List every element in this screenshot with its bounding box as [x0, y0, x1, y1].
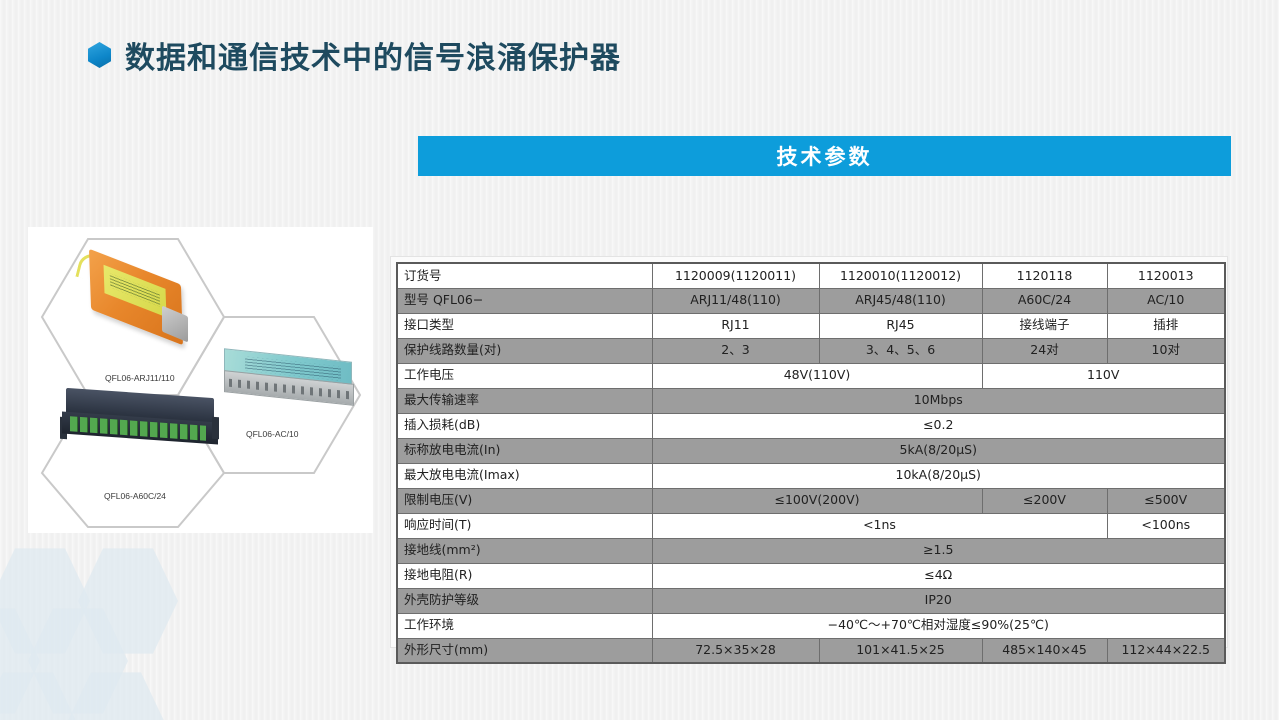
spec-row-value: ≤0.2 — [652, 413, 1225, 438]
spec-row-label: 外壳防护等级 — [397, 588, 652, 613]
spec-row-value: ≤4Ω — [652, 563, 1225, 588]
spec-row-value: 插排 — [1107, 313, 1225, 338]
hexagon-bullet-icon — [88, 42, 111, 68]
spec-row-value: 101×41.5×25 — [819, 638, 982, 663]
product-image-arj11 — [74, 253, 202, 357]
section-header-bar: 技术参数 — [418, 136, 1231, 176]
spec-table: 订货号1120009(1120011)1120010(1120012)11201… — [396, 262, 1226, 664]
spec-table-frame: 订货号1120009(1120011)1120010(1120012)11201… — [390, 256, 1228, 648]
spec-row-value: A60C/24 — [982, 288, 1107, 313]
spec-row-value: ≤500V — [1107, 488, 1225, 513]
spec-row-label: 响应时间(T) — [397, 513, 652, 538]
spec-row-label: 保护线路数量(对) — [397, 338, 652, 363]
spec-row-label: 最大放电电流(Imax) — [397, 463, 652, 488]
spec-row-value: 110V — [982, 363, 1225, 388]
spec-table-row: 订货号1120009(1120011)1120010(1120012)11201… — [397, 263, 1225, 288]
spec-row-value: 10Mbps — [652, 388, 1225, 413]
spec-row-label: 插入损耗(dB) — [397, 413, 652, 438]
product-image-ac10 — [216, 349, 366, 411]
spec-table-row: 最大传输速率10Mbps — [397, 388, 1225, 413]
spec-row-value: 1120118 — [982, 263, 1107, 288]
page-title: 数据和通信技术中的信号浪涌保护器 — [125, 33, 621, 77]
spec-row-value: IP20 — [652, 588, 1225, 613]
spec-row-value: −40℃～+70℃相对湿度≤90%(25℃) — [652, 613, 1225, 638]
spec-row-label: 最大传输速率 — [397, 388, 652, 413]
spec-row-label: 接口类型 — [397, 313, 652, 338]
spec-row-value: AC/10 — [1107, 288, 1225, 313]
spec-table-row: 工作环境−40℃～+70℃相对湿度≤90%(25℃) — [397, 613, 1225, 638]
spec-table-row: 保护线路数量(对)2、33、4、5、624对10对 — [397, 338, 1225, 363]
section-header-label: 技术参数 — [777, 141, 873, 171]
spec-row-label: 订货号 — [397, 263, 652, 288]
spec-row-label: 接地线(mm²) — [397, 538, 652, 563]
product-image-panel: QFL06-ARJ11/110 QFL06-AC/10 QFL06-A60C/2… — [28, 227, 373, 533]
spec-row-value: 1120013 — [1107, 263, 1225, 288]
spec-row-label: 限制电压(V) — [397, 488, 652, 513]
spec-table-row: 响应时间(T)<1ns<100ns — [397, 513, 1225, 538]
spec-row-value: 10kA(8/20μS) — [652, 463, 1225, 488]
spec-row-value: 112×44×22.5 — [1107, 638, 1225, 663]
spec-row-label: 标称放电电流(In) — [397, 438, 652, 463]
spec-table-row: 限制电压(V)≤100V(200V)≤200V≤500V — [397, 488, 1225, 513]
spec-row-value: <100ns — [1107, 513, 1225, 538]
spec-row-label: 工作环境 — [397, 613, 652, 638]
spec-row-label: 型号 QFL06− — [397, 288, 652, 313]
hexagon-decoration-cluster — [0, 545, 360, 720]
product-label-a60c24: QFL06-A60C/24 — [104, 491, 166, 501]
spec-row-value: RJ45 — [819, 313, 982, 338]
spec-row-value: 24对 — [982, 338, 1107, 363]
spec-table-row: 接地电阻(R)≤4Ω — [397, 563, 1225, 588]
spec-row-value: 2、3 — [652, 338, 819, 363]
spec-row-value: ARJ11/48(110) — [652, 288, 819, 313]
product-label-arj11: QFL06-ARJ11/110 — [105, 373, 175, 383]
slide-header: 数据和通信技术中的信号浪涌保护器 — [88, 33, 621, 77]
spec-row-value: 1120010(1120012) — [819, 263, 982, 288]
spec-row-value: ≤100V(200V) — [652, 488, 982, 513]
product-label-ac10: QFL06-AC/10 — [246, 429, 298, 439]
spec-row-value: 10对 — [1107, 338, 1225, 363]
spec-table-row: 接地线(mm²)≥1.5 — [397, 538, 1225, 563]
spec-table-row: 接口类型RJ11RJ45接线端子插排 — [397, 313, 1225, 338]
spec-row-value: ≤200V — [982, 488, 1107, 513]
spec-table-row: 外形尺寸(mm)72.5×35×28101×41.5×25485×140×451… — [397, 638, 1225, 663]
spec-row-value: 72.5×35×28 — [652, 638, 819, 663]
spec-row-value: 5kA(8/20μS) — [652, 438, 1225, 463]
product-image-a60c24 — [56, 387, 226, 457]
spec-row-value: 1120009(1120011) — [652, 263, 819, 288]
spec-table-row: 标称放电电流(In)5kA(8/20μS) — [397, 438, 1225, 463]
spec-row-value: <1ns — [652, 513, 1107, 538]
spec-row-label: 工作电压 — [397, 363, 652, 388]
spec-row-value: ARJ45/48(110) — [819, 288, 982, 313]
spec-table-row: 工作电压48V(110V)110V — [397, 363, 1225, 388]
spec-table-row: 最大放电电流(Imax)10kA(8/20μS) — [397, 463, 1225, 488]
spec-table-row: 型号 QFL06−ARJ11/48(110)ARJ45/48(110)A60C/… — [397, 288, 1225, 313]
spec-table-body: 订货号1120009(1120011)1120010(1120012)11201… — [397, 263, 1225, 663]
spec-row-value: RJ11 — [652, 313, 819, 338]
spec-row-value: ≥1.5 — [652, 538, 1225, 563]
spec-table-row: 外壳防护等级IP20 — [397, 588, 1225, 613]
spec-table-row: 插入损耗(dB)≤0.2 — [397, 413, 1225, 438]
spec-row-label: 接地电阻(R) — [397, 563, 652, 588]
spec-row-value: 接线端子 — [982, 313, 1107, 338]
spec-row-value: 485×140×45 — [982, 638, 1107, 663]
spec-row-label: 外形尺寸(mm) — [397, 638, 652, 663]
spec-row-value: 48V(110V) — [652, 363, 982, 388]
spec-row-value: 3、4、5、6 — [819, 338, 982, 363]
